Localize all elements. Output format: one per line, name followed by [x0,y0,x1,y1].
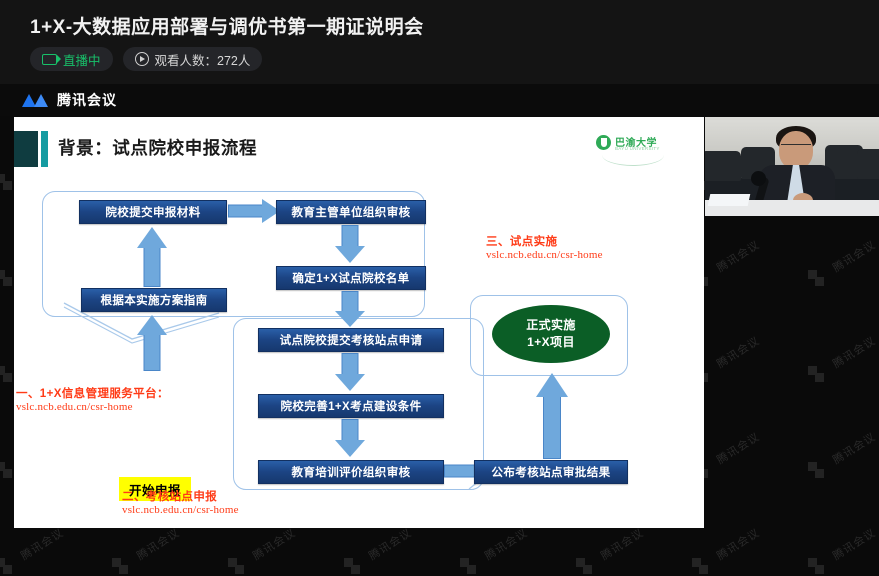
glasses-icon [781,144,811,152]
flow-box-b8-label: 公布考核站点审批结果 [492,464,611,480]
watermark-text: 腾讯会议 [829,428,878,467]
watermark-text: 腾讯会议 [829,524,878,563]
note-n3-line1: 三、试点实施 [486,233,603,249]
final-node[interactable]: 正式实施 1+X项目 [492,305,610,363]
flow-box-b3-label: 确定1+X试点院校名单 [292,270,409,286]
watermark-text: 腾讯会议 [713,332,762,371]
flow-box-b5[interactable]: 试点院校提交考核站点申请 [258,328,444,352]
brand-label: 腾讯会议 [57,90,117,110]
note-n3-line2: vslc.ncb.edu.cn/csr-home [486,249,603,261]
watermark-glyph-icon [0,558,5,567]
flow-box-b7-label: 教育培训评价组织审核 [292,464,411,480]
arrow-up-b4-b1 [132,227,172,287]
watermark-text: 腾讯会议 [829,332,878,371]
watermark-text: 腾讯会议 [713,428,762,467]
arrow-down-b6-b7 [330,419,370,457]
flow-box-b4-label: 根据本实施方案指南 [100,292,207,308]
stream-header: 1+X-大数据应用部署与调优书第一期证说明会 直播中 观看人数：272人 [0,0,879,84]
flow-box-b8[interactable]: 公布考核站点审批结果 [474,460,628,484]
watermark-text: 腾讯会议 [133,524,182,563]
watermark-text: 腾讯会议 [713,236,762,275]
arrow-up-b8-final [531,373,573,459]
live-label: 直播中 [63,50,101,69]
note-n1: 一、1+X信息管理服务平台： vslc.ncb.edu.cn/csr-home [16,385,169,413]
arrow-up-start-b4 [132,315,172,371]
play-circle-icon [135,52,149,66]
brand-logo: 腾讯会议 [22,90,117,110]
page-title: 1+X-大数据应用部署与调优书第一期证说明会 [30,12,424,39]
watermark-text: 腾讯会议 [17,524,66,563]
header-badges: 直播中 观看人数：272人 [30,47,262,71]
watermark-glyph-icon [692,558,701,567]
flow-box-b1[interactable]: 院校提交申报材料 [79,200,227,224]
chair-left [705,151,741,181]
note-n2-line2: vslc.ncb.edu.cn/csr-home [122,504,239,516]
watermark-glyph-icon [228,558,237,567]
viewer-count-badge: 观看人数：272人 [123,47,263,71]
watermark-glyph-icon [0,366,5,375]
watermark-glyph-icon [808,462,817,471]
microphone-icon [751,171,766,186]
arrow-down-b2-b3 [330,225,370,263]
flow-box-b1-label: 院校提交申报材料 [105,204,200,220]
watermark-glyph-icon [112,558,121,567]
note-n3: 三、试点实施 vslc.ncb.edu.cn/csr-home [486,233,603,261]
flow-box-b2[interactable]: 教育主管单位组织审核 [276,200,426,224]
watermark-text: 腾讯会议 [365,524,414,563]
watermark-glyph-icon [344,558,353,567]
arrow-down-b3-b5 [330,291,370,327]
note-n1-line2: vslc.ncb.edu.cn/csr-home [16,401,169,413]
flow-box-b5-label: 试点院校提交考核站点申请 [280,332,423,348]
note-n1-line1: 一、1+X信息管理服务平台： [16,385,169,401]
flow-box-b3[interactable]: 确定1+X试点院校名单 [276,266,426,290]
live-status-badge: 直播中 [30,47,113,71]
watermark-text: 腾讯会议 [249,524,298,563]
watermark-glyph-icon [808,270,817,279]
watermark-glyph-icon [808,558,817,567]
presentation-slide[interactable]: 背景：试点院校申报流程 巴渝大学 BAYU UNIVERSITY 院校提交申报材… [14,117,704,528]
tencent-meeting-logo-icon [22,93,48,107]
tencent-meeting-bar: 腾讯会议 [0,84,879,116]
flow-box-b4[interactable]: 根据本实施方案指南 [81,288,227,312]
final-node-line2: 1+X项目 [527,334,575,351]
flow-box-b6-label: 院校完善1+X考点建设条件 [281,398,422,414]
watermark-glyph-icon [808,366,817,375]
final-node-line1: 正式实施 [526,317,576,334]
chair-far-right [857,149,879,179]
watermark-glyph-icon [576,558,585,567]
note-n2-line1: 二、考核站点申报 [122,488,239,504]
watermark-text: 腾讯会议 [481,524,530,563]
flow-box-b6[interactable]: 院校完善1+X考点建设条件 [258,394,444,418]
note-n2: 二、考核站点申报 vslc.ncb.edu.cn/csr-home [122,488,239,516]
arrow-right-b1-b2 [228,199,280,223]
flow-box-b7[interactable]: 教育培训评价组织审核 [258,460,444,484]
watermark-glyph-icon [0,270,5,279]
watermark-text: 腾讯会议 [597,524,646,563]
arrow-down-b5-b6 [330,353,370,391]
watermark-glyph-icon [460,558,469,567]
watermark-glyph-icon [0,174,5,183]
paper-sheet [708,194,751,206]
viewer-count-label: 观看人数：272人 [155,50,251,69]
watermark-text: 腾讯会议 [829,236,878,275]
watermark-text: 腾讯会议 [713,524,762,563]
camera-icon [42,54,57,65]
watermark-glyph-icon [0,462,5,471]
flow-box-b2-label: 教育主管单位组织审核 [292,204,411,220]
presenter-video-tile[interactable] [705,117,879,216]
